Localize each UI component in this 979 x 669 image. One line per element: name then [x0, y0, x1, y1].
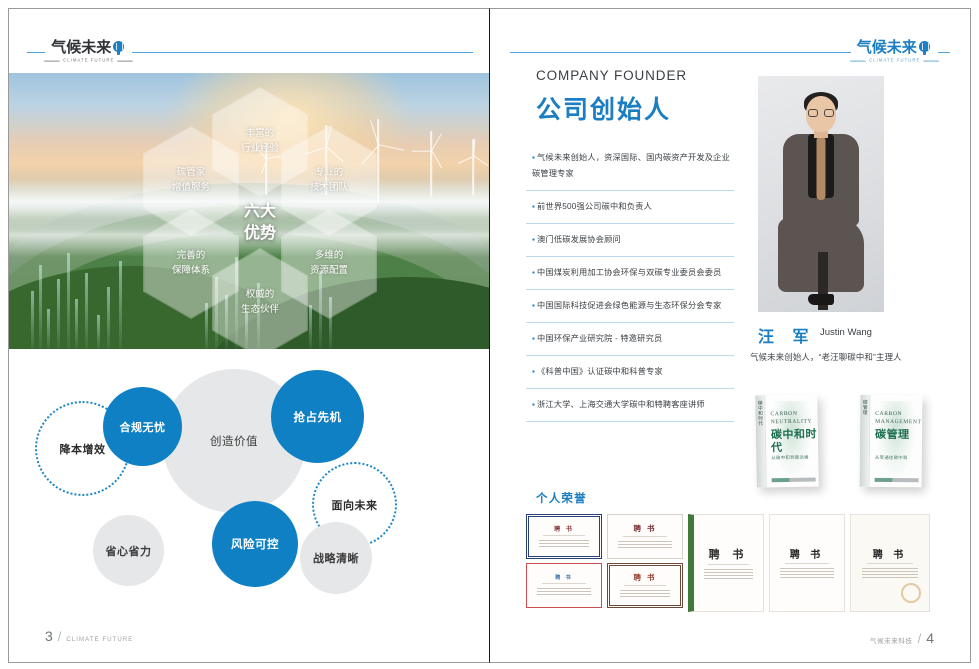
certificates-gallery: 聘 书 聘 书 聘 书 — [526, 514, 944, 612]
footer-slash: / — [918, 631, 922, 646]
certificate-label: 聘 书 — [873, 546, 908, 561]
bullet-dot-icon: ▪ — [532, 268, 535, 277]
certificate-thumb[interactable]: 聘 书 — [688, 514, 764, 612]
book-cover[interactable]: 碳管理 CARBON MANAGEMENT 碳管理 从零通往碳中和 — [860, 395, 923, 488]
bullet-dot-icon: ▪ — [532, 301, 535, 310]
document-spread: 气候未来 CLIMATE FUTURE — [0, 0, 979, 669]
hex-label-line1: 完善的 — [177, 249, 206, 264]
brand-logo-tagline: CLIMATE FUTURE — [44, 57, 133, 64]
certificate-thumb[interactable]: 聘 书 — [526, 514, 602, 559]
page-number-left: 3 — [45, 628, 53, 644]
book-title-en: CARBON NEUTRALITY — [770, 410, 816, 426]
bullet-dot-icon: ▪ — [532, 153, 535, 162]
hex-label-line1: 碳管家 — [177, 166, 206, 181]
footer-right: 气候未来科技 / 4 — [870, 630, 934, 646]
hex-label-line2: 技术团队 — [310, 181, 348, 196]
credential-item: ▪中国国际科技促进会绿色能源与生态环保分会专家 — [526, 290, 734, 323]
book-title-cn: 碳中和时代 — [771, 428, 817, 454]
credential-text: 中国国际科技促进会绿色能源与生态环保分会专家 — [537, 301, 722, 310]
hex-label-line1: 专业的 — [315, 166, 344, 181]
brand-logo-tagline: CLIMATE FUTURE — [850, 57, 939, 64]
brand-logo-wordmark: 气候未来 — [857, 39, 932, 56]
footer-caption-right: 气候未来科技 — [870, 635, 913, 645]
published-books: 碳中和时代 CARBON NEUTRALITY 碳中和时代 从碳中和到碳达峰 碳… — [752, 391, 952, 495]
bubble-compliance[interactable]: 合规无忧 — [103, 387, 182, 466]
page-right: 气候未来 CLIMATE FUTURE COMPANY FOUNDER 公司创始… — [489, 8, 971, 663]
credential-text: 浙江大学、上海交通大学碳中和特聘客座讲师 — [537, 400, 705, 409]
credential-item: ▪气候未来创始人，资深国际、国内碳资产开发及企业碳管理专家 — [526, 142, 734, 191]
hex-label-line1: 权威的 — [246, 288, 275, 303]
hex-center-line2: 优势 — [244, 223, 276, 245]
bubble-label: 面向未来 — [332, 497, 378, 513]
bubble-label: 风险可控 — [231, 536, 279, 552]
certificate-stack: 聘 书 聘 书 — [526, 514, 602, 612]
certificate-thumb[interactable]: 聘 书 — [526, 563, 602, 608]
certificate-thumb[interactable]: 聘 书 — [607, 563, 683, 608]
section-headline: 公司创始人 — [536, 90, 671, 126]
bullet-dot-icon: ▪ — [532, 202, 535, 211]
six-advantages-hex-diagram: 丰富的 行业经验 专业的 技术团队 多维的 资源配置 权威的 生态伙伴 完善的 — [9, 73, 490, 349]
publisher-bar — [875, 478, 919, 482]
bullet-dot-icon: ▪ — [532, 400, 535, 409]
book-subtitle: 从碳中和到碳达峰 — [771, 454, 817, 461]
credential-text: 《科普中国》认证碳中和科普专家 — [537, 367, 663, 376]
book-cover[interactable]: 碳中和时代 CARBON NEUTRALITY 碳中和时代 从碳中和到碳达峰 — [755, 394, 819, 487]
honours-section-title: 个人荣誉 — [536, 490, 587, 506]
book-title-cn: 碳管理 — [875, 429, 921, 442]
credential-text: 前世界500强公司碳中和负责人 — [537, 202, 652, 211]
credential-text: 中国环保产业研究院 - 特邀研究员 — [537, 334, 662, 343]
bubble-label: 合规无忧 — [120, 419, 166, 435]
glasses-icon — [808, 109, 834, 117]
book-title-en: CARBON MANAGEMENT — [875, 411, 921, 426]
hex-label-line1: 多维的 — [315, 249, 344, 264]
certificate-label: 聘 书 — [554, 524, 574, 533]
hex-label-line2: 行业经验 — [241, 142, 279, 157]
publisher-bar — [772, 478, 816, 483]
bubble-label: 降本增效 — [60, 441, 106, 457]
certificate-thumb[interactable]: 聘 书 — [769, 514, 845, 612]
page-number-right: 4 — [926, 630, 934, 646]
brand-logo-left: 气候未来 CLIMATE FUTURE — [45, 39, 132, 63]
certificate-label: 聘 书 — [633, 572, 656, 583]
hex-center-line1: 六大 — [244, 201, 276, 223]
founder-portrait-photo — [758, 76, 884, 312]
hex-label-line1: 丰富的 — [246, 127, 275, 142]
credential-item: ▪浙江大学、上海交通大学碳中和特聘客座讲师 — [526, 389, 734, 422]
credential-text: 气候未来创始人，资深国际、国内碳资产开发及企业碳管理专家 — [532, 153, 730, 178]
brand-logo-en-a: CLIMATE FUTURE — [63, 57, 114, 64]
bullet-dot-icon: ▪ — [532, 334, 535, 343]
lightbulb-icon — [112, 41, 125, 55]
book-spine-title: 碳管理 — [860, 395, 871, 487]
bubble-first-mover[interactable]: 抢占先机 — [271, 370, 364, 463]
certificate-label: 聘 书 — [555, 574, 572, 581]
credential-item: ▪《科普中国》认证碳中和科普专家 — [526, 356, 734, 389]
book-spine-title: 碳中和时代 — [755, 395, 767, 487]
certificate-label: 聘 书 — [709, 546, 749, 562]
bubble-label: 战略清晰 — [313, 550, 359, 566]
certificate-thumb[interactable]: 聘 书 — [850, 514, 930, 612]
footer-left: 3 / CLIMATE FUTURE — [45, 628, 133, 644]
footer-caption-left: CLIMATE FUTURE — [66, 637, 133, 643]
lightbulb-icon — [918, 41, 931, 55]
credential-text: 澳门低碳发展协会顾问 — [537, 235, 621, 244]
hex-label-line2: 资源配置 — [310, 264, 348, 279]
bubble-effortless[interactable]: 省心省力 — [93, 515, 164, 586]
book-subtitle: 从零通往碳中和 — [875, 455, 921, 461]
founder-description: 气候未来创始人，“老汪聊碳中和”主理人 — [750, 351, 902, 363]
certificate-label: 聘 书 — [633, 523, 656, 534]
bubble-label: 省心省力 — [106, 543, 152, 559]
page-left-header: 气候未来 CLIMATE FUTURE — [9, 39, 489, 67]
credential-item: ▪前世界500强公司碳中和负责人 — [526, 191, 734, 224]
footer-slash: / — [58, 629, 62, 644]
hex-label-line2: 增值服务 — [172, 181, 210, 196]
founder-name-en: Justin Wang — [820, 327, 872, 338]
founder-credentials-list: ▪气候未来创始人，资深国际、国内碳资产开发及企业碳管理专家 ▪前世界500强公司… — [526, 142, 734, 422]
page-right-header: 气候未来 CLIMATE FUTURE — [490, 39, 971, 67]
certificate-label: 聘 书 — [790, 546, 825, 561]
brand-logo-wordmark: 气候未来 — [51, 39, 126, 56]
brand-logo-right: 气候未来 CLIMATE FUTURE — [851, 39, 938, 63]
portrait-figure — [758, 76, 884, 312]
section-kicker: COMPANY FOUNDER — [536, 68, 687, 83]
brand-logo-cn-a: 气候未来 — [51, 39, 111, 56]
certificate-stack: 聘 书 聘 书 — [607, 514, 683, 612]
credential-text: 中国煤炭利用加工协会环保与双碳专业委员会委员 — [537, 268, 722, 277]
credential-item: ▪澳门低碳发展协会顾问 — [526, 224, 734, 257]
founder-name-cn: 汪 军 — [758, 323, 815, 347]
bubble-label: 抢占先机 — [294, 409, 342, 425]
hero-landscape-photo: 丰富的 行业经验 专业的 技术团队 多维的 资源配置 权威的 生态伙伴 完善的 — [9, 73, 490, 349]
bubble-clear-strategy[interactable]: 战略清晰 — [300, 522, 372, 594]
page-left: 气候未来 CLIMATE FUTURE — [8, 8, 490, 663]
certificate-thumb[interactable]: 聘 书 — [607, 514, 683, 559]
credential-item: ▪中国煤炭利用加工协会环保与双碳专业委员会委员 — [526, 257, 734, 290]
brand-logo-cn-b: 气候未来 — [857, 39, 917, 56]
credential-item: ▪中国环保产业研究院 - 特邀研究员 — [526, 323, 734, 356]
official-seal-icon — [901, 583, 921, 603]
bubble-risk-control[interactable]: 风险可控 — [212, 501, 298, 587]
bullet-dot-icon: ▪ — [532, 235, 535, 244]
hex-label-line2: 保障体系 — [172, 264, 210, 279]
bubble-label: 创造价值 — [210, 433, 258, 449]
value-bubble-diagram: 创造价值 降本增效 合规无忧 抢占先机 面向未来 省心省力 风险可控 战略清晰 — [9, 359, 490, 624]
brand-logo-en-b: CLIMATE FUTURE — [869, 57, 920, 64]
bullet-dot-icon: ▪ — [532, 367, 535, 376]
hex-label-line2: 生态伙伴 — [241, 303, 279, 318]
